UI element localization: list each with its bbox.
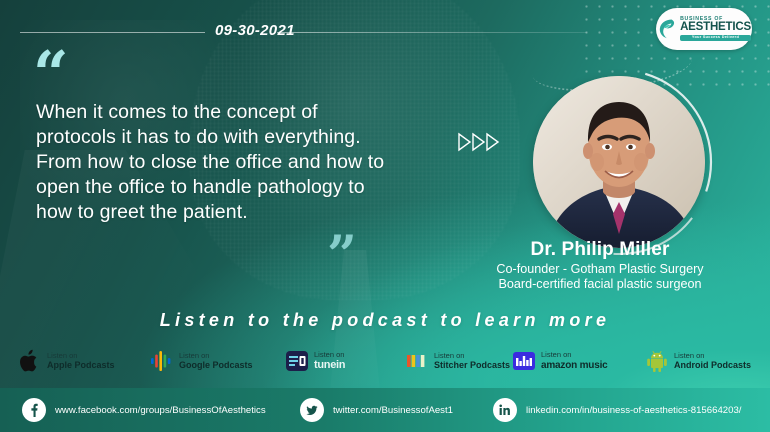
badge-google-podcasts[interactable]: Listen on Google Podcasts — [150, 347, 253, 375]
speaker-photo — [533, 76, 705, 248]
amazon-icon — [512, 349, 536, 373]
header-rule-right — [277, 32, 587, 33]
speaker-name: Dr. Philip Miller — [430, 239, 770, 261]
badge-line1: Listen on — [541, 351, 608, 359]
badge-line1: Listen on — [179, 352, 253, 360]
call-to-action-text: Listen to the podcast to learn more — [0, 310, 770, 331]
footer-link-facebook[interactable]: www.facebook.com/groups/BusinessOfAesthe… — [22, 398, 266, 422]
speaker-role: Co-founder - Gotham Plastic Surgery — [430, 262, 770, 276]
twitter-icon — [300, 398, 324, 422]
header-rule-left — [20, 32, 205, 33]
badge-line1: Listen on — [434, 352, 510, 360]
badge-tunein[interactable]: Listen on tunein — [285, 347, 345, 375]
social-footer-bar: www.facebook.com/groups/BusinessOfAesthe… — [0, 388, 770, 432]
badge-line2: Google Podcasts — [179, 360, 253, 370]
badge-line2: tunein — [314, 359, 345, 371]
podcast-quote-graphic: 09-30-2021 BUSINESS OF AESTHETICS Your S… — [0, 0, 770, 432]
badge-line2: Stitcher Podcasts — [434, 360, 510, 370]
badge-line2: Apple Podcasts — [47, 360, 115, 370]
google-icon — [150, 349, 174, 373]
brand-logo[interactable]: BUSINESS OF AESTHETICS Your Success Deli… — [656, 8, 752, 50]
android-icon — [645, 349, 669, 373]
badge-line1: Listen on — [47, 352, 115, 360]
badge-amazon-music[interactable]: Listen on amazon music — [512, 347, 608, 375]
badge-line1: Listen on — [314, 351, 345, 359]
badge-stitcher-podcasts[interactable]: Listen on Stitcher Podcasts — [405, 347, 510, 375]
brand-logo-line2: AESTHETICS — [680, 22, 751, 34]
stitcher-icon — [405, 349, 429, 373]
speaker-subtitle: Board-certified facial plastic surgeon — [430, 277, 770, 291]
episode-date: 09-30-2021 — [215, 22, 271, 39]
footer-link-url: www.facebook.com/groups/BusinessOfAesthe… — [55, 405, 266, 416]
footer-link-url: linkedin.com/in/business-of-aesthetics-8… — [526, 405, 741, 416]
footer-link-linkedin[interactable]: linkedin.com/in/business-of-aesthetics-8… — [493, 398, 741, 422]
badge-line1: Listen on — [674, 352, 751, 360]
opening-quote-mark: “ — [33, 43, 69, 105]
quote-text: When it comes to the concept of protocol… — [36, 100, 386, 225]
aesthetics-leaf-face-icon — [657, 18, 677, 40]
tunein-icon — [285, 349, 309, 373]
play-arrows-icon — [458, 132, 504, 152]
badge-line2: Android Podcasts — [674, 360, 751, 370]
footer-link-twitter[interactable]: twitter.com/BusinessofAest1 — [300, 398, 453, 422]
badge-android-podcasts[interactable]: Listen on Android Podcasts — [645, 347, 751, 375]
speaker-portrait — [533, 76, 705, 248]
brand-logo-text: BUSINESS OF AESTHETICS Your Success Deli… — [680, 17, 751, 42]
badge-line2: amazon music — [541, 360, 608, 371]
podcast-platform-badges: Listen on Apple Podcasts Listen on Googl… — [0, 347, 770, 377]
linkedin-icon — [493, 398, 517, 422]
footer-link-url: twitter.com/BusinessofAest1 — [333, 405, 453, 416]
closing-quote-mark: ” — [327, 230, 357, 282]
badge-apple-podcasts[interactable]: Listen on Apple Podcasts — [18, 347, 115, 375]
brand-logo-tagline: Your Success Deliverd — [680, 35, 751, 41]
facebook-icon — [22, 398, 46, 422]
apple-icon — [18, 349, 42, 373]
